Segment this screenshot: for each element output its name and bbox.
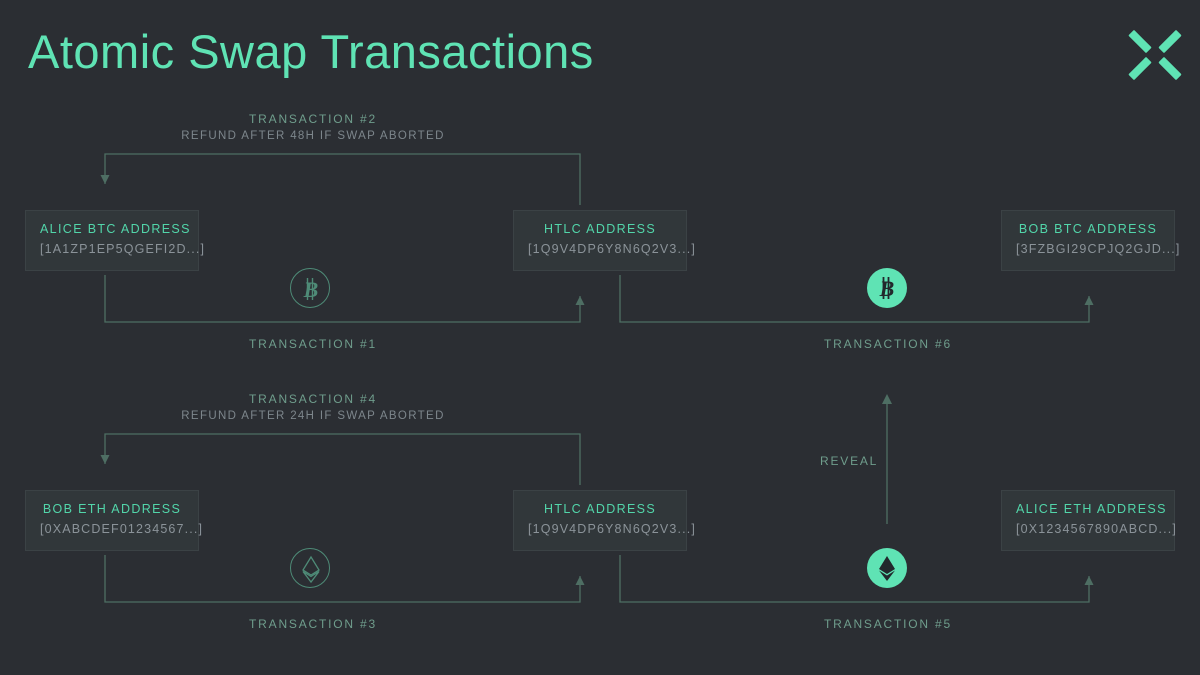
- connector-wires: [0, 0, 1200, 675]
- svg-text:B: B: [879, 276, 895, 301]
- node-title: ALICE ETH ADDRESS: [1016, 501, 1160, 518]
- svg-text:B: B: [303, 277, 319, 302]
- node-bob-btc-address[interactable]: BOB BTC ADDRESS [3FZBGI29CPJQ2GJD...]: [1001, 210, 1175, 271]
- logo-bar-top-right: [1158, 30, 1181, 53]
- connector-label-tx4: TRANSACTION #4 REFUND AFTER 24H IF SWAP …: [181, 392, 444, 422]
- node-hash: [0X1234567890ABCD...]: [1016, 520, 1160, 539]
- connector-title: TRANSACTION #3: [249, 617, 377, 631]
- connector-title: TRANSACTION #4: [181, 392, 444, 406]
- node-hash: [3FZBGI29CPJQ2GJD...]: [1016, 240, 1160, 259]
- bitcoin-icon: B: [867, 268, 907, 308]
- node-title: BOB BTC ADDRESS: [1016, 221, 1160, 238]
- logo-bar-bottom-left: [1128, 57, 1151, 80]
- ethereum-icon: [290, 548, 330, 588]
- logo-bar-bottom-right: [1158, 57, 1181, 80]
- node-title: HTLC ADDRESS: [528, 221, 672, 238]
- connector-title: TRANSACTION #5: [824, 617, 952, 631]
- connector-title: TRANSACTION #6: [824, 337, 952, 351]
- node-title: BOB ETH ADDRESS: [40, 501, 184, 518]
- connector-label-reveal: REVEAL: [820, 454, 878, 468]
- node-hash: [1A1ZP1EP5QGEFI2D...]: [40, 240, 184, 259]
- connector-label-tx3: TRANSACTION #3: [249, 617, 377, 631]
- connector-title: TRANSACTION #2: [181, 112, 444, 126]
- node-bob-eth-address[interactable]: BOB ETH ADDRESS [0XABCDEF01234567...]: [25, 490, 199, 551]
- node-title: HTLC ADDRESS: [528, 501, 672, 518]
- node-alice-eth-address[interactable]: ALICE ETH ADDRESS [0X1234567890ABCD...]: [1001, 490, 1175, 551]
- page-title: Atomic Swap Transactions: [28, 24, 594, 79]
- node-hash: [0XABCDEF01234567...]: [40, 520, 184, 539]
- node-htlc-eth-address[interactable]: HTLC ADDRESS [1Q9V4DP6Y8N6Q2V3...]: [513, 490, 687, 551]
- node-htlc-btc-address[interactable]: HTLC ADDRESS [1Q9V4DP6Y8N6Q2V3...]: [513, 210, 687, 271]
- logo-bar-top-left: [1128, 30, 1151, 53]
- node-hash: [1Q9V4DP6Y8N6Q2V3...]: [528, 520, 672, 539]
- connector-label-tx2: TRANSACTION #2 REFUND AFTER 48H IF SWAP …: [181, 112, 444, 142]
- connector-title: TRANSACTION #1: [249, 337, 377, 351]
- node-alice-btc-address[interactable]: ALICE BTC ADDRESS [1A1ZP1EP5QGEFI2D...]: [25, 210, 199, 271]
- bitcoin-icon: B: [290, 268, 330, 308]
- node-hash: [1Q9V4DP6Y8N6Q2V3...]: [528, 240, 672, 259]
- connector-subtitle: REFUND AFTER 48H IF SWAP ABORTED: [181, 130, 444, 142]
- node-title: ALICE BTC ADDRESS: [40, 221, 184, 238]
- slide-canvas: Atomic Swap Transactions ALICE BTC ADD: [0, 0, 1200, 675]
- x-mark-logo-icon: [1129, 29, 1181, 81]
- connector-label-tx5: TRANSACTION #5: [824, 617, 952, 631]
- connector-subtitle: REFUND AFTER 24H IF SWAP ABORTED: [181, 410, 444, 422]
- connector-label-tx6: TRANSACTION #6: [824, 337, 952, 351]
- ethereum-icon: [867, 548, 907, 588]
- connector-label-tx1: TRANSACTION #1: [249, 337, 377, 351]
